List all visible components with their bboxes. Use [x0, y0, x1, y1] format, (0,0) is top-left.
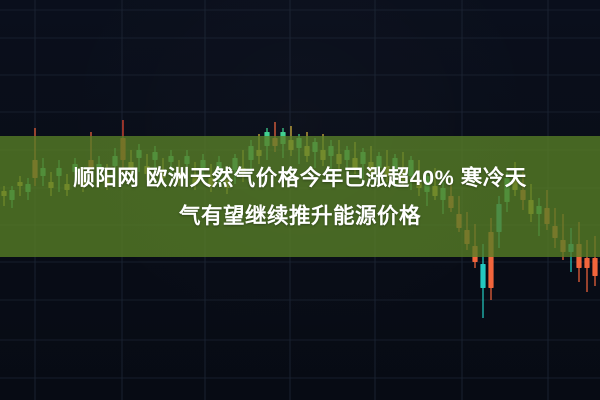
caption-banner: 顺阳网 欧洲天然气价格今年已涨超40% 寒冷天 气有望继续推升能源价格	[0, 136, 600, 257]
candle-body	[592, 258, 597, 276]
screenshot-root: 顺阳网 欧洲天然气价格今年已涨超40% 寒冷天 气有望继续推升能源价格	[0, 0, 600, 400]
caption-line-1: 顺阳网 欧洲天然气价格今年已涨超40% 寒冷天	[73, 159, 526, 197]
caption-line-2: 气有望继续推升能源价格	[179, 197, 421, 235]
candle-body	[480, 264, 485, 288]
candle-body	[584, 258, 589, 268]
